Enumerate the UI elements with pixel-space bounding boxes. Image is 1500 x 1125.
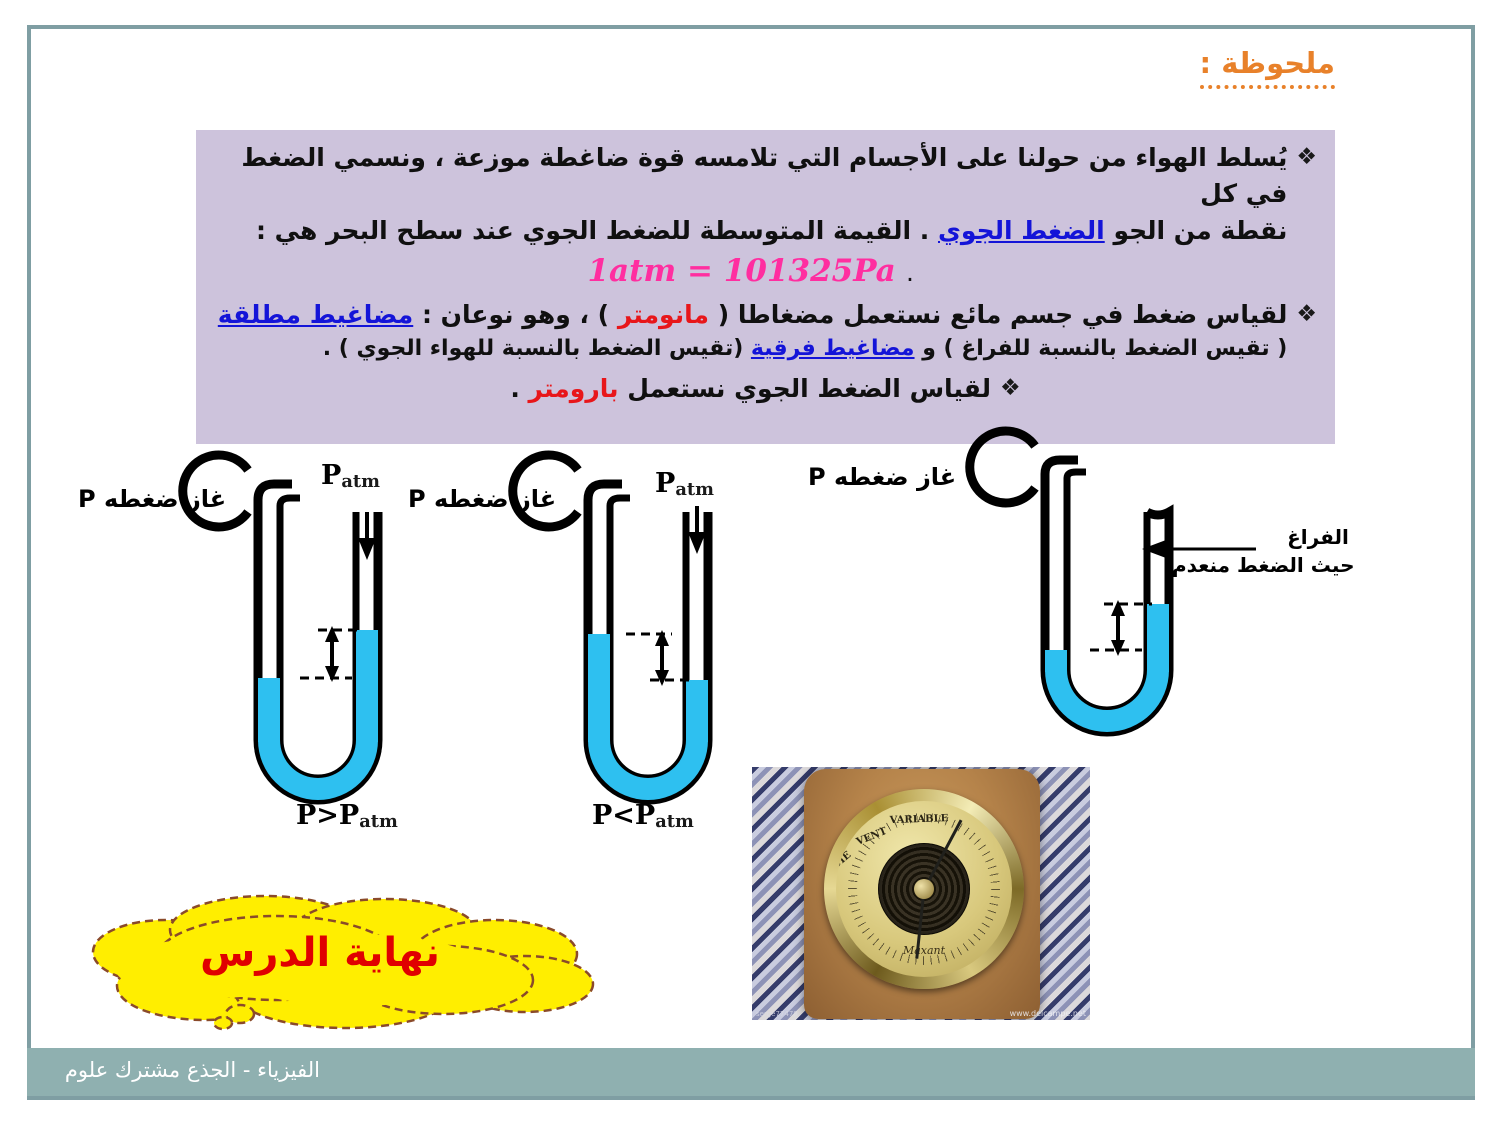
bullet-1-line-2: نقطة من الجو الضغط الجوي . القيمة المتوس…	[214, 213, 1287, 249]
photo-credit-left: serge77478	[756, 1010, 798, 1018]
patm-main: P	[321, 460, 341, 491]
bullet-1-line-2-part-a: نقطة من الجو	[1105, 216, 1288, 245]
dial-word-4: BEAU TEMPS	[959, 801, 1012, 842]
vacuum-label-line-2: حيث الضغط منعدم	[1172, 553, 1355, 577]
brass-bezel: TEMPÊTE PLUIE VENT VARIABLE BEAU TEMPS T…	[824, 789, 1024, 989]
bullet-item-2: ❖ لقياس ضغط في جسم مائع نستعمل مضغاطا ( …	[214, 297, 1317, 365]
atm-formula: 1atm = 101325Pa	[587, 253, 895, 289]
term-absolute-manometers: مضاغيط مطلقة	[218, 300, 413, 329]
bullet-2-line-1-part-b: ) ، وهو نوعان :	[413, 300, 618, 329]
diagram-1-caption: P>Patm	[296, 800, 398, 832]
bullet-2-line-1-part-a: لقياس ضغط في جسم مائع نستعمل مضغاطا (	[709, 300, 1287, 329]
frame-top-border	[27, 25, 1475, 29]
dial-word-1: PLUIE	[836, 850, 853, 881]
term-barometer: بارومتر	[529, 374, 619, 403]
caption-sub: atm	[359, 811, 398, 832]
dial-word-2: VENT	[855, 826, 889, 848]
diamond-bullet-icon: ❖	[1000, 373, 1021, 405]
diagram-2-patm-label: Patm	[655, 468, 714, 500]
bullet-2-line-2: ( تقيس الضغط بالنسبة للفراغ ) و مضاغيط ف…	[214, 333, 1287, 365]
bullet-3-part-b: .	[510, 374, 528, 403]
diagram-2-gas-label: غاز ضغطه P	[408, 485, 556, 513]
bullet-2-line-2-part-a: ( تقيس الضغط بالنسبة للفراغ ) و	[915, 336, 1288, 361]
barometer-photo: TEMPÊTE PLUIE VENT VARIABLE BEAU TEMPS T…	[752, 767, 1090, 1020]
diamond-bullet-icon: ❖	[1296, 142, 1317, 174]
diagram-2-caption: P<Patm	[592, 800, 694, 832]
formula-row: . 1atm = 101325Pa	[214, 253, 1287, 289]
formula-period: .	[906, 258, 914, 287]
term-differential-manometers: مضاغيط فرقية	[751, 336, 915, 361]
term-manometer: مانومتر	[618, 300, 709, 329]
bullet-1-line-1: يُسلط الهواء من حولنا على الأجسام التي ت…	[214, 140, 1287, 213]
diagram-1-gas-label: غاز ضغطه P	[78, 485, 226, 513]
diagram-1-patm-label: Patm	[321, 460, 380, 492]
caption-main: P>P	[296, 800, 359, 831]
note-content-box: ❖ يُسلط الهواء من حولنا على الأجسام التي…	[196, 130, 1335, 444]
patm-main: P	[655, 468, 675, 499]
caption-sub: atm	[655, 811, 694, 832]
page-title: ملحوظة :	[1200, 46, 1335, 89]
needle-hub	[914, 879, 934, 899]
photo-credit-right: www.delcampe.net	[1010, 1009, 1086, 1018]
bullet-3-part-a: لقياس الضغط الجوي نستعمل	[619, 374, 992, 403]
bullet-2-body: لقياس ضغط في جسم مائع نستعمل مضغاطا ( ما…	[214, 297, 1287, 365]
end-of-lesson-callout: نهاية الدرس	[55, 880, 615, 1040]
vacuum-label-line-1: الفراغ	[1258, 525, 1378, 549]
bullet-item-1: ❖ يُسلط الهواء من حولنا على الأجسام التي…	[214, 140, 1317, 289]
bullet-3-body: لقياس الضغط الجوي نستعمل بارومتر .	[510, 371, 991, 407]
diagram-3-gas-label: غاز ضغطه P	[808, 463, 956, 491]
footer-label: الفيزياء - الجذع مشترك علوم	[40, 1058, 320, 1082]
patm-sub: atm	[341, 471, 380, 492]
dial-word-3: VARIABLE	[890, 813, 949, 826]
bullet-2-line-2-part-b: (تقيس الضغط بالنسبة للهواء الجوي ) .	[323, 336, 751, 361]
bullet-item-3: ❖ لقياس الضغط الجوي نستعمل بارومتر .	[214, 371, 1317, 407]
patm-sub: atm	[675, 479, 714, 500]
term-atmospheric-pressure: الضغط الجوي	[938, 216, 1105, 245]
bullet-1-line-2-part-b: . القيمة المتوسطة للضغط الجوي عند سطح ال…	[256, 216, 938, 245]
bullet-2-line-1: لقياس ضغط في جسم مائع نستعمل مضغاطا ( ما…	[214, 297, 1287, 333]
slide-root: ملحوظة : ❖ يُسلط الهواء من حولنا على الأ…	[0, 0, 1500, 1125]
caption-main: P<P	[592, 800, 655, 831]
diagram-manometer-absolute	[970, 431, 1256, 732]
bullet-1-body: يُسلط الهواء من حولنا على الأجسام التي ت…	[214, 140, 1287, 289]
barometer-brand: Maxant	[836, 944, 1012, 957]
frame-right-border	[1471, 25, 1475, 1100]
end-of-lesson-text: نهاية الدرس	[55, 880, 615, 1040]
diamond-bullet-icon: ❖	[1296, 299, 1317, 331]
bullet-3-line: لقياس الضغط الجوي نستعمل بارومتر .	[510, 371, 991, 407]
barometer-dial-face: TEMPÊTE PLUIE VENT VARIABLE BEAU TEMPS T…	[836, 801, 1012, 977]
frame-left-border	[27, 25, 31, 1100]
